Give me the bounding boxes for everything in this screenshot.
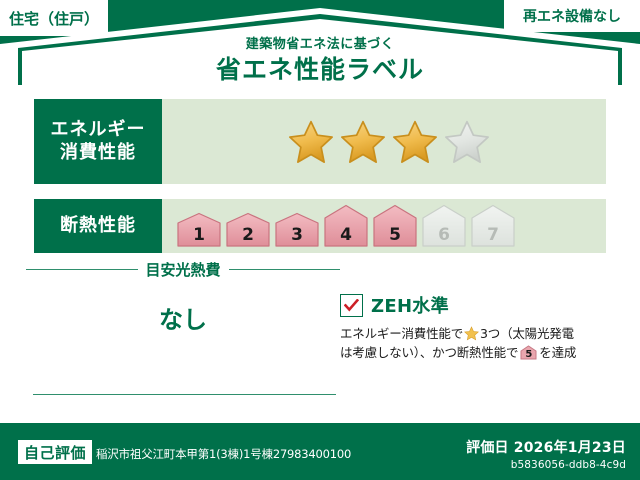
title-subtitle: 建築物省エネ法に基づく [140, 38, 500, 52]
zeh-description: エネルギー消費性能で3つ（太陽光発電 は考慮しない）、かつ断熱性能で5を達成 [340, 324, 616, 363]
property-address: 稲沢市祖父江町本甲第1(3棟)1号棟27983400100 [96, 446, 351, 462]
insulation-level-number: 4 [323, 225, 369, 245]
insulation-level-2: 2 [225, 212, 271, 248]
energy-consumption-label: エネルギー 消費性能 [34, 99, 162, 184]
insulation-level-number: 3 [274, 225, 320, 245]
insulation-level-number: 5 [372, 225, 418, 245]
star-icon-filled [288, 119, 334, 165]
evaluation-id: b5836056-ddb8-4c9d [466, 459, 626, 471]
energy-performance-label: 住宅（住戸） 再エネ設備なし 建築物省エネ法に基づく 省エネ性能ラベル エネルギ… [0, 0, 640, 480]
utility-cost-title: 目安光熱費 [146, 259, 221, 280]
building-type-tag: 住宅（住戸） [0, 0, 108, 36]
star-icon-filled [392, 119, 438, 165]
insulation-label: 断熱性能 [34, 199, 162, 253]
insulation-level-4: 4 [323, 204, 369, 248]
check-icon [344, 299, 359, 312]
insulation-level-6: 6 [421, 204, 467, 248]
insulation-performance-row: 断熱性能 1234567 [34, 199, 606, 253]
insulation-level-number: 2 [225, 225, 271, 245]
zeh-block: ZEH水準 エネルギー消費性能で3つ（太陽光発電 は考慮しない）、かつ断熱性能で… [340, 292, 616, 363]
rule-left [26, 269, 138, 270]
energy-label-line1: エネルギー [51, 119, 146, 142]
insulation-level-number: 6 [421, 225, 467, 245]
utility-cost-value: なし [26, 300, 340, 335]
insulation-level-7: 7 [470, 204, 516, 248]
insulation-level-1: 1 [176, 212, 222, 248]
insulation-level-number: 7 [470, 225, 516, 245]
zeh-heading: ZEH水準 [340, 292, 616, 318]
star-icon-filled [340, 119, 386, 165]
evaluation-date: 評価日 2026年1月23日 [466, 437, 626, 457]
zeh-desc-part2: は考慮しない）、かつ断熱性能で [340, 345, 518, 360]
insulation-level-number: 1 [176, 225, 222, 245]
star-rating [162, 99, 606, 184]
star-icon-inline [464, 326, 479, 341]
zeh-desc-star-count: 3つ（太陽光発電 [480, 326, 574, 341]
zeh-checkbox[interactable] [340, 294, 363, 317]
energy-label-line2: 消費性能 [51, 142, 146, 165]
zeh-desc-part1: エネルギー消費性能で [340, 326, 463, 341]
title-main: 省エネ性能ラベル [140, 56, 500, 84]
utility-cost-heading: 目安光熱費 [26, 259, 340, 279]
zeh-desc-part3: を達成 [539, 345, 576, 360]
self-evaluation-tag: 自己評価 [18, 440, 92, 464]
utility-cost-bottom-rule [33, 394, 336, 395]
star-icon-empty [444, 119, 490, 165]
rule-right [229, 269, 341, 270]
insulation-scale: 1234567 [162, 199, 606, 253]
energy-consumption-row: エネルギー 消費性能 [34, 99, 606, 184]
evaluation-meta: 評価日 2026年1月23日 b5836056-ddb8-4c9d [466, 437, 626, 471]
renewable-equipment-tag: 再エネ設備なし [504, 0, 640, 32]
insulation-level-3: 3 [274, 212, 320, 248]
insulation-badge-number: 5 [520, 350, 537, 360]
insulation-level-5: 5 [372, 204, 418, 248]
page-title: 建築物省エネ法に基づく 省エネ性能ラベル [140, 38, 500, 84]
zeh-title: ZEH水準 [371, 292, 449, 318]
insulation-badge-inline: 5 [520, 345, 537, 360]
